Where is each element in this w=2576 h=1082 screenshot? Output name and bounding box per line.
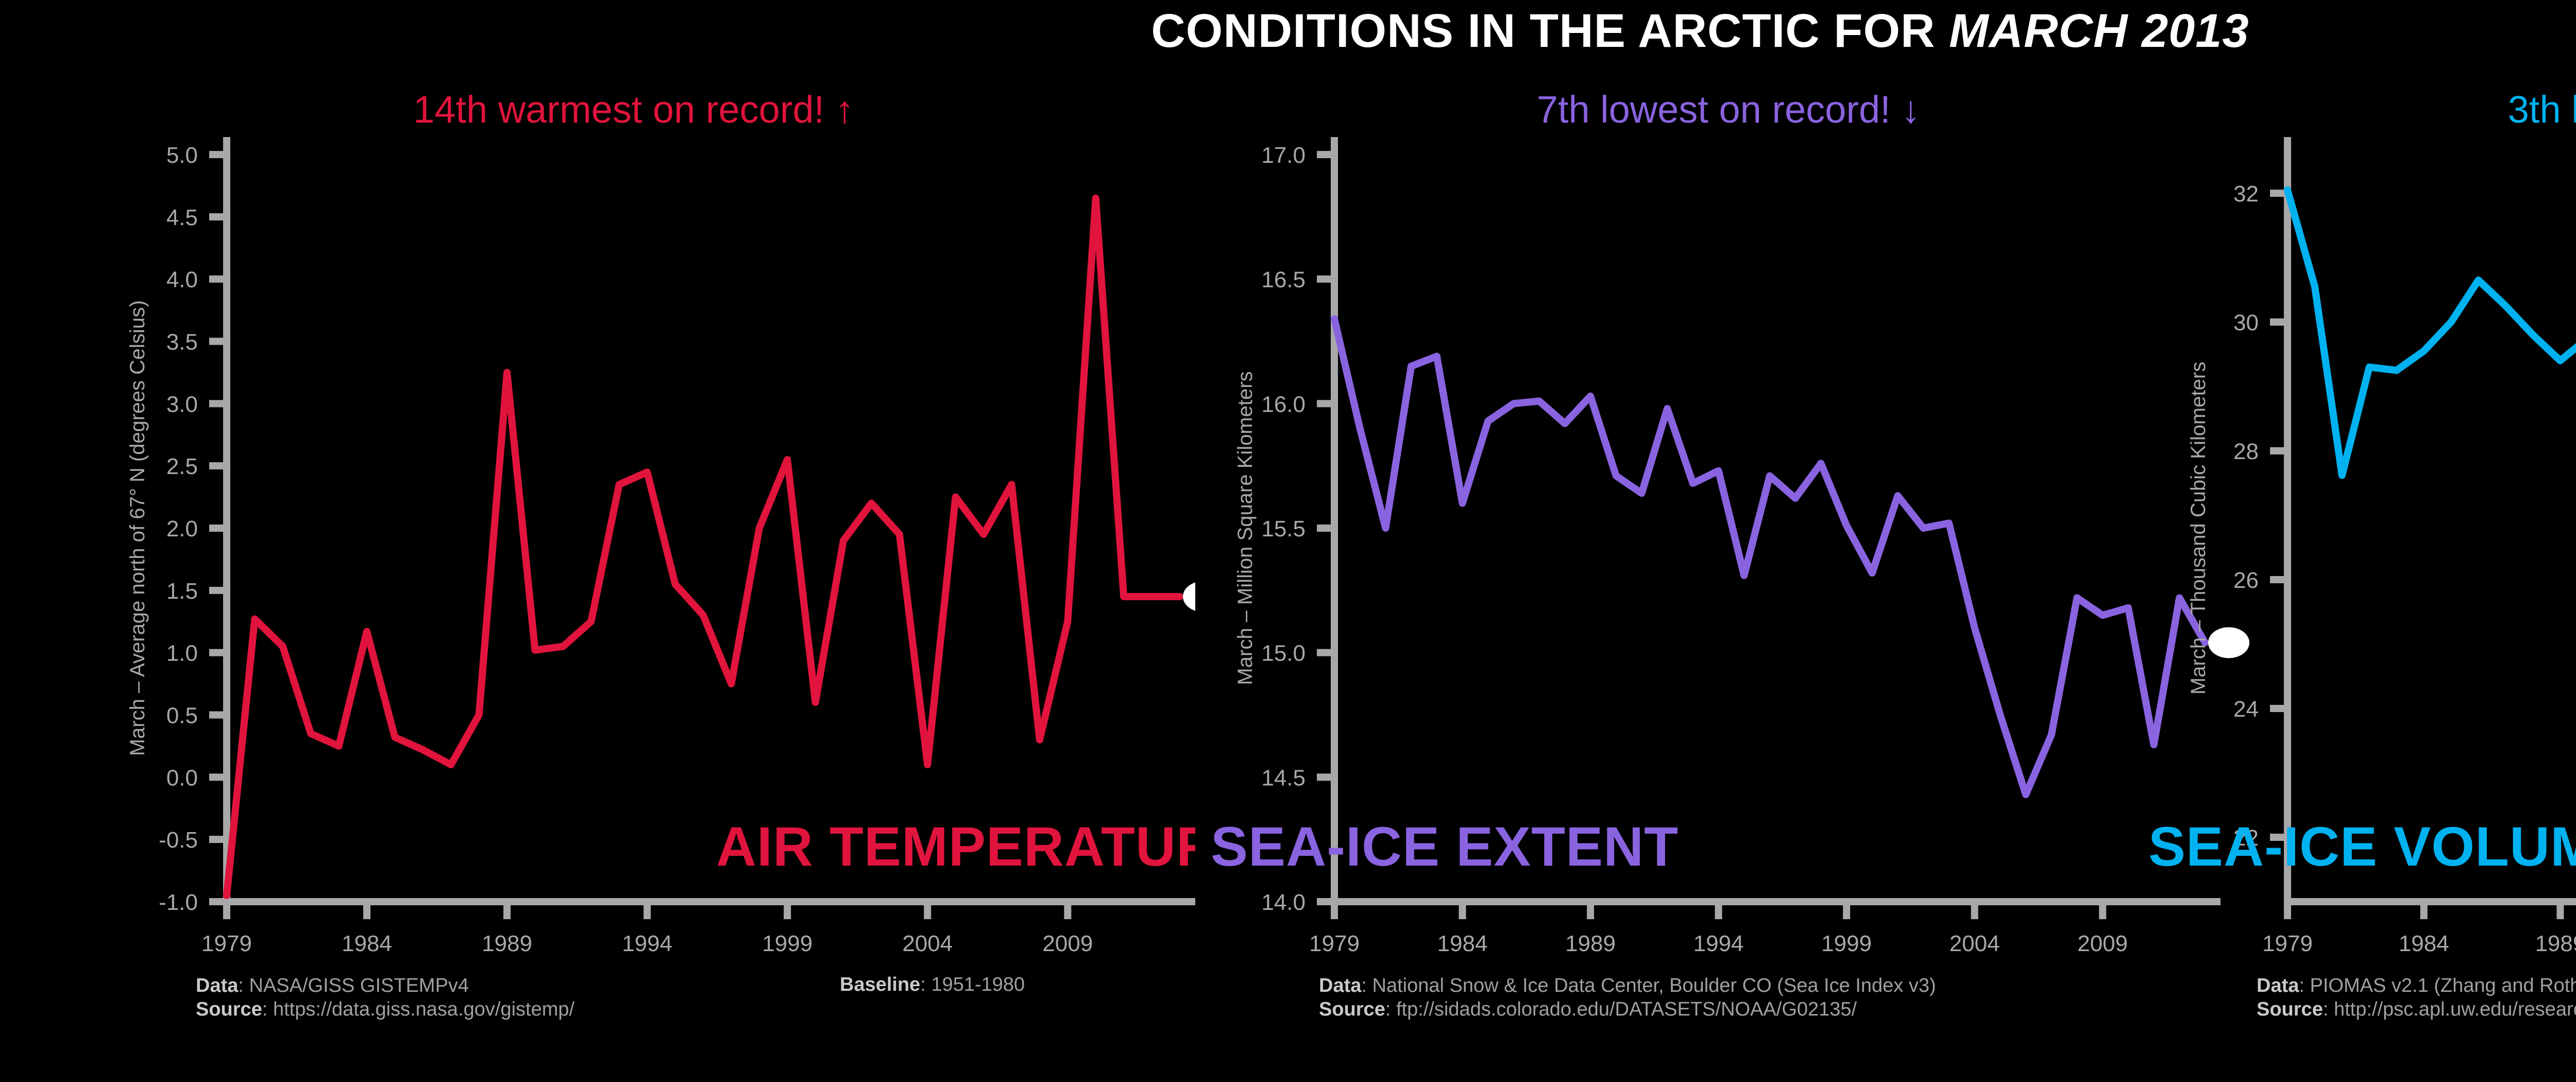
x-tick-label: 2004 [902,931,953,956]
y-tick-label: 14.0 [1261,890,1306,915]
footer-source-label-0: Source [196,999,262,1020]
x-tick-label: 2004 [1950,931,2000,956]
data-line [227,198,1180,895]
y-tick-label: 2.5 [166,454,198,479]
y-tick-label: 0.0 [166,765,198,790]
footer-sea-ice-volume: Data: PIOMAS v2.1 (Zhang and Rothrock, 2… [2257,974,2576,1022]
x-tick-label: 1989 [1565,931,1616,956]
footer-baseline-value: 1951-1980 [931,974,1025,995]
plot-sea-ice-volume: 3230282624221979198419891994199920042009… [2133,134,2576,969]
y-axis-label: March – Thousand Cubic Kilometers [2187,362,2210,695]
footer-data-value-1: National Snow & Ice Data Center, Boulder… [1372,975,1936,996]
y-tick-label: 15.0 [1261,641,1306,666]
footer-source-value-2: http://psc.apl.uw.edu/research/projects/… [2334,999,2576,1020]
footer-source-label-1: Source [1319,999,1385,1020]
y-tick-label: 16.5 [1261,267,1306,293]
footer-data-label-2: Data [2257,975,2299,996]
footer-air-temperature: Data: NASA/GISS GISTEMPv4 Source: https:… [196,974,574,1022]
data-line [2287,190,2576,863]
x-tick-label: 1989 [2535,931,2576,956]
plot-sea-ice-extent: 17.016.516.015.515.014.514.0197919841989… [1195,134,2262,969]
y-tick-label: 4.5 [166,205,198,230]
footer-data-label-1: Data [1319,975,1361,996]
plot-air-temperature: 5.04.54.03.53.02.52.01.51.00.50.0-0.5-1.… [72,134,1195,969]
y-tick-label: 4.0 [166,267,198,293]
y-tick-label: 3.5 [166,330,198,355]
y-tick-label: -1.0 [159,890,198,915]
y-tick-label: -0.5 [159,827,198,853]
y-tick-label: 3.0 [166,392,198,417]
x-tick-label: 1994 [622,931,672,956]
y-tick-label: 32 [2233,181,2259,207]
x-tick-label: 1999 [762,931,812,956]
x-tick-label: 1999 [1821,931,1872,956]
footer-sea-ice-extent: Data: National Snow & Ice Data Center, B… [1319,974,1936,1022]
x-tick-label: 1979 [2262,931,2313,956]
data-line [1334,319,2205,794]
panel-sea-ice-volume: 3th lowest on record! ↓ 3230282624221979… [2133,77,2576,1056]
y-tick-label: 15.5 [1261,516,1306,542]
y-tick-label: 24 [2233,697,2259,722]
y-axis-label: March – Average north of 67° N (degrees … [126,300,149,756]
y-tick-label: 1.5 [166,579,198,604]
x-tick-label: 2009 [1042,931,1093,956]
panel-rank-sea-ice-volume: 3th lowest on record! ↓ [2133,88,2576,131]
footer-source-value-0: https://data.giss.nasa.gov/gistemp/ [273,999,574,1020]
x-tick-label: 1994 [1693,931,1744,956]
x-tick-label: 1984 [2399,931,2449,956]
footer-data-value-0: NASA/GISS GISTEMPv4 [249,975,469,996]
panel-big-label: SEA-ICE EXTENT [1211,815,1679,877]
page-title: CONDITIONS IN THE ARCTIC FOR MARCH 2013 [0,4,2576,58]
y-tick-label: 2.0 [166,516,198,542]
y-tick-label: 14.5 [1261,765,1306,790]
x-tick-label: 1979 [201,931,252,956]
title-main: CONDITIONS IN THE ARCTIC FOR [1151,5,1949,57]
y-tick-label: 1.0 [166,641,198,666]
title-month-year: MARCH 2013 [1949,5,2249,57]
panel-rank-sea-ice-extent: 7th lowest on record! ↓ [1195,88,2262,131]
footer-source-label-2: Source [2257,999,2323,1020]
panel-big-label: SEA-ICE VOLUME [2148,815,2576,877]
panel-air-temperature: 14th warmest on record! ↑ 5.04.54.03.53.… [72,77,1195,1056]
footer-data-value-2: PIOMAS v2.1 (Zhang and Rothrock, 2003; S… [2310,975,2576,996]
y-tick-label: 28 [2233,439,2259,464]
x-tick-label: 1984 [1437,931,1488,956]
y-axis-label: March – Million Square Kilometers [1234,371,1257,685]
y-tick-label: 30 [2233,310,2259,335]
panel-big-label: AIR TEMPERATURE [716,815,1195,877]
y-tick-label: 5.0 [166,143,198,168]
y-tick-label: 17.0 [1261,143,1306,168]
footer-baseline-label: Baseline [840,974,920,995]
x-tick-label: 2009 [2077,931,2128,956]
visualization-root: CONDITIONS IN THE ARCTIC FOR MARCH 2013 … [0,0,2576,1082]
footer-data-label-0: Data [196,975,238,996]
footer-source-value-1: ftp://sidads.colorado.edu/DATASETS/NOAA/… [1396,999,1857,1020]
y-tick-label: 26 [2233,568,2259,593]
x-tick-label: 1979 [1309,931,1360,956]
panel-rank-air-temperature: 14th warmest on record! ↑ [72,88,1195,131]
x-tick-label: 1989 [482,931,532,956]
panel-sea-ice-extent: 7th lowest on record! ↓ 17.016.516.015.5… [1195,77,2262,1056]
latest-value-marker [1183,581,1195,612]
y-tick-label: 16.0 [1261,392,1306,417]
footer-baseline-air-temperature: Baseline: 1951-1980 [840,974,1025,996]
y-tick-label: 0.5 [166,703,198,729]
x-tick-label: 1984 [342,931,392,956]
